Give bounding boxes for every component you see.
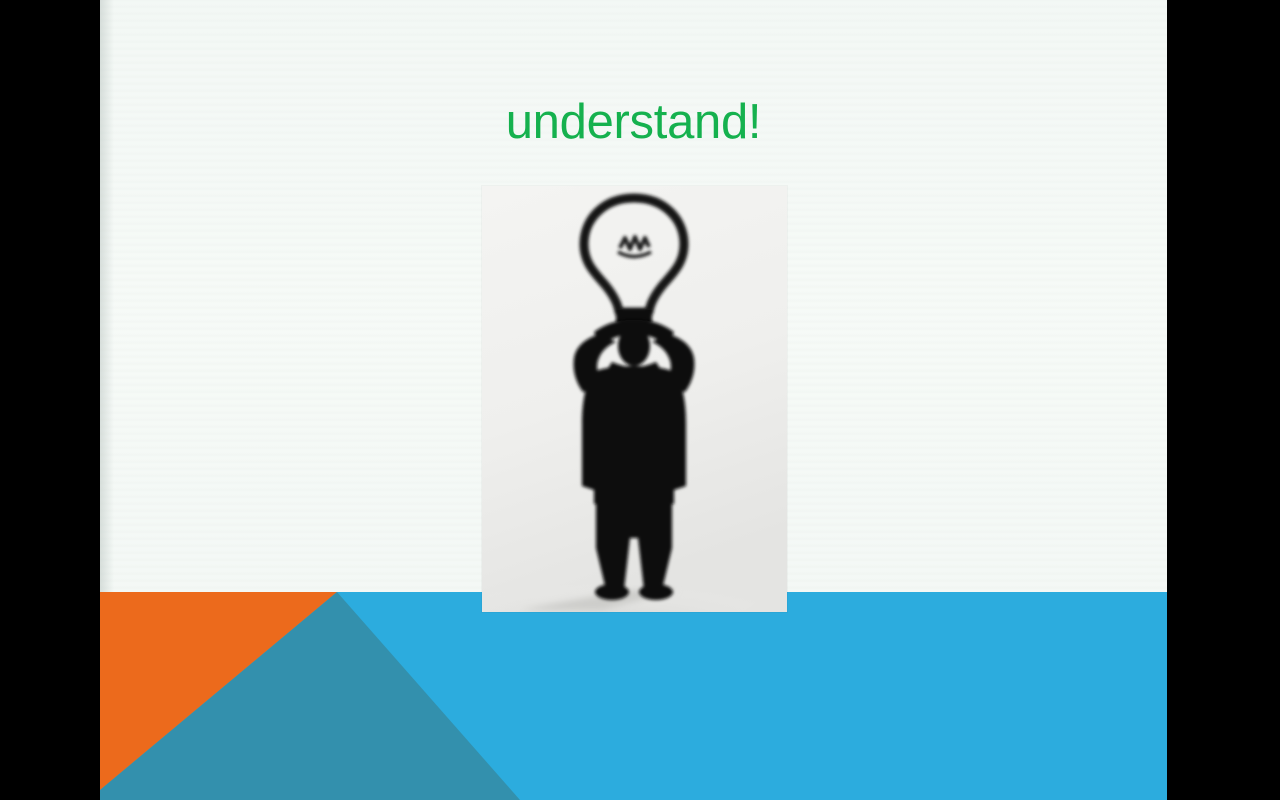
- man-holding-lightbulb-photo: [482, 186, 787, 612]
- decorative-color-band: [100, 592, 1167, 800]
- slide-viewer: understand!: [0, 0, 1280, 800]
- slide-title: understand!: [100, 92, 1167, 152]
- color-band-graphic: [100, 592, 1167, 800]
- photo-artwork: [482, 186, 787, 612]
- letterbox-bar-left: [0, 0, 100, 800]
- letterbox-bar-right: [1167, 0, 1280, 800]
- presentation-slide: understand!: [100, 0, 1167, 800]
